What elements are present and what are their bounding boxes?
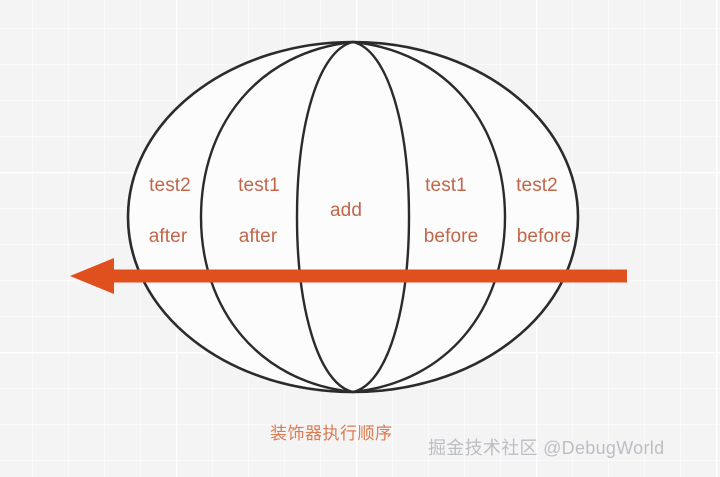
watermark: 掘金技术社区 @DebugWorld xyxy=(428,434,664,460)
segment-label-inner-left-line1: test1 xyxy=(238,175,280,197)
segment-label-center-line1: add xyxy=(330,200,362,222)
diagram-canvas: test2 after test1 after add test1 before… xyxy=(0,0,720,477)
segment-label-outer-left-line2: after xyxy=(149,226,188,248)
segment-label-inner-right-line2: before xyxy=(424,226,478,248)
segment-label-outer-right-line1: test2 xyxy=(516,175,558,197)
segment-label-outer-left-line1: test2 xyxy=(149,175,191,197)
onion-diagram xyxy=(0,0,720,477)
segment-label-inner-left-line2: after xyxy=(239,226,278,248)
segment-label-inner-right-line1: test1 xyxy=(425,175,467,197)
diagram-caption: 装饰器执行顺序 xyxy=(270,419,393,444)
segment-label-outer-right-line2: before xyxy=(517,226,571,248)
